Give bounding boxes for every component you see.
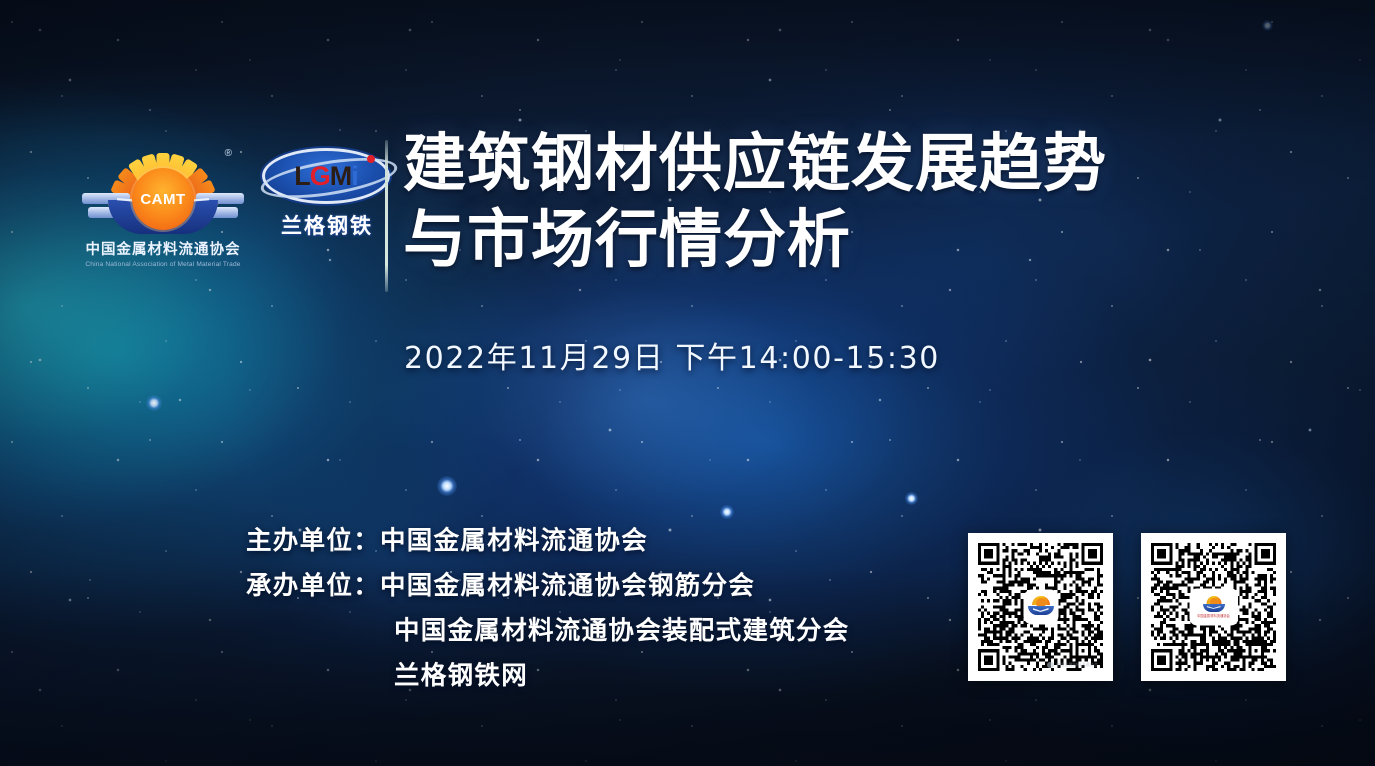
title-line-2: 与市场行情分析 xyxy=(403,203,1233,279)
qr-code-right[interactable]: 中国金属材料流通协会 xyxy=(1141,533,1286,681)
camt-logo: CAMT ® 中国金属材料流通协会 China National Associa… xyxy=(82,142,244,268)
event-poster: CAMT ® 中国金属材料流通协会 China National Associa… xyxy=(0,0,1375,766)
page-title: 建筑钢材供应链发展趋势 与市场行情分析 xyxy=(403,127,1233,278)
lgmi-logo: LGMi 兰格钢铁 xyxy=(262,148,392,240)
lgmi-mark-text: LGMi xyxy=(294,163,358,190)
logo-group: CAMT ® 中国金属材料流通协会 China National Associa… xyxy=(82,142,392,268)
qr-center-logo-icon xyxy=(1026,592,1056,622)
camt-emblem: CAMT ® xyxy=(82,142,244,234)
camt-mark-text: CAMT xyxy=(140,191,185,208)
organizer-block: 主办单位：中国金属材料流通协会 承办单位：中国金属材料流通协会钢筋分会 中国金属… xyxy=(246,519,850,699)
qr-logo-caption: 中国金属材料流通协会 xyxy=(1197,615,1230,618)
qr-watermark-icon xyxy=(1047,662,1054,668)
lgmi-name-cn: 兰格钢铁 xyxy=(262,210,392,240)
qr-center-logo-icon: 中国金属材料流通协会 xyxy=(1192,591,1236,623)
lgmi-letter-m: M xyxy=(330,161,352,191)
qr-code-left[interactable]: 中国金属材料流通协会 xyxy=(968,533,1113,681)
lgmi-letter-l: L xyxy=(294,161,310,191)
lgmi-dot-icon xyxy=(367,155,375,163)
qr-watermark-text: 中国金属材料流通协会 xyxy=(1056,662,1098,668)
lgmi-letter-i: i xyxy=(351,161,358,191)
qr-canvas-right: 中国金属材料流通协会 xyxy=(1151,543,1276,671)
camt-name-cn: 中国金属材料流通协会 xyxy=(82,238,244,259)
camt-name-en: China National Association of Metal Mate… xyxy=(82,261,244,268)
organizer-line: 中国金属材料流通协会装配式建筑分会 xyxy=(246,609,850,654)
lgmi-letter-g: G xyxy=(310,161,330,191)
qr-canvas-left: 中国金属材料流通协会 xyxy=(978,543,1103,671)
lgmi-emblem: LGMi xyxy=(262,148,390,204)
header-divider xyxy=(385,140,388,292)
registered-icon: ® xyxy=(225,148,232,159)
organizer-line: 承办单位：中国金属材料流通协会钢筋分会 xyxy=(246,564,850,609)
organizer-line: 兰格钢铁网 xyxy=(246,654,850,699)
qr-watermark: 中国金属材料流通协会 xyxy=(1047,662,1098,668)
event-datetime: 2022年11月29日 下午14:00-15:30 xyxy=(404,333,940,377)
title-line-1: 建筑钢材供应链发展趋势 xyxy=(403,129,1107,199)
organizer-line: 主办单位：中国金属材料流通协会 xyxy=(246,519,850,564)
camt-core-badge: CAMT xyxy=(132,168,194,230)
